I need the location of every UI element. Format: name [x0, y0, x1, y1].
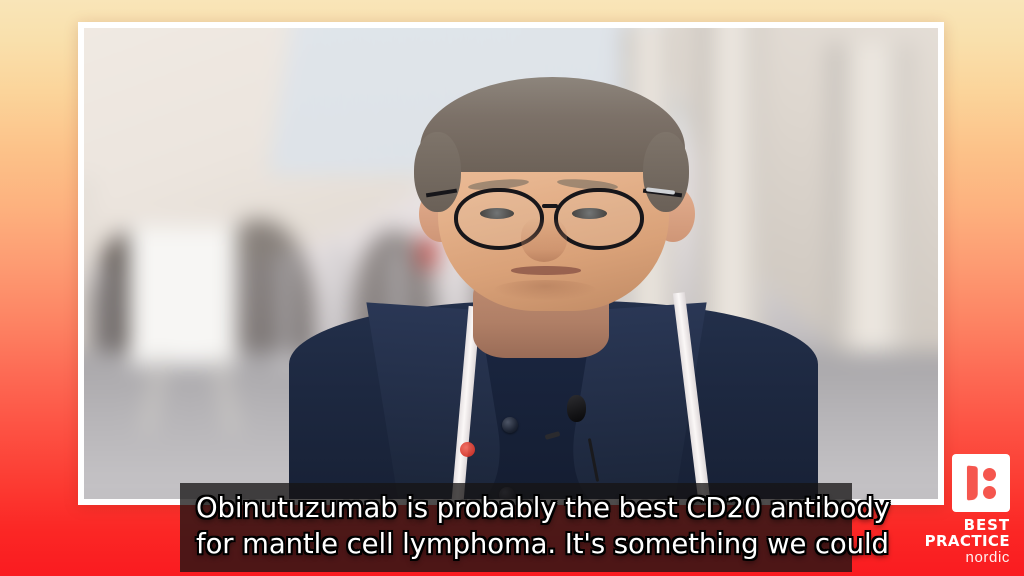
brand-wordmark-line-3: nordic — [918, 549, 1010, 566]
subtitle-line-2: for mantle cell lymphoma. It's something… — [196, 526, 836, 562]
mark-bar-shape — [967, 465, 978, 500]
chin-shadow — [494, 280, 596, 300]
hair-side-right — [643, 132, 690, 212]
video-player-stage: Obinutuzumab is probably the best CD20 a… — [0, 0, 1024, 576]
lavalier-mic-icon — [567, 395, 586, 422]
glasses-lens-right — [554, 188, 645, 250]
brand-wordmark-line-2: PRACTICE — [918, 533, 1010, 549]
subtitle-line-1: Obinutuzumab is probably the best CD20 a… — [196, 490, 836, 526]
hair-side-left — [414, 132, 461, 212]
brand-wordmark-line-1: BEST — [918, 517, 1010, 533]
subtitle-caption-box: Obinutuzumab is probably the best CD20 a… — [180, 483, 852, 572]
mark-dot-top — [983, 468, 996, 481]
jacket-button-2 — [502, 417, 518, 433]
interview-subject — [84, 28, 938, 499]
video-frame[interactable] — [78, 22, 944, 505]
brand-logo: BEST PRACTICE nordic — [918, 454, 1010, 566]
video-surface[interactable] — [84, 28, 938, 499]
best-practice-mark-icon — [952, 454, 1010, 512]
glasses-bridge — [542, 204, 558, 208]
mark-dot-bottom — [983, 486, 996, 499]
